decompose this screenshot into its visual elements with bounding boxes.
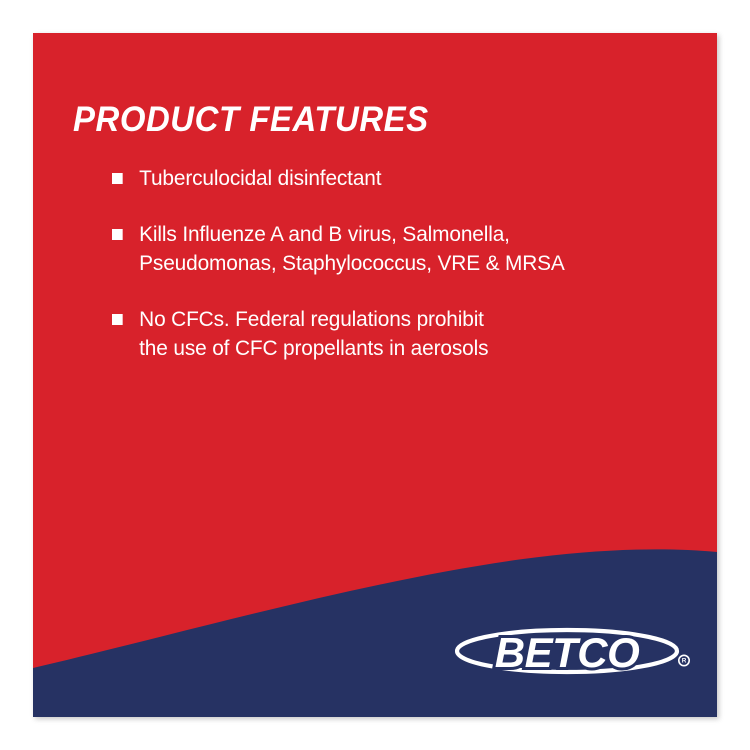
square-bullet-icon [112,314,123,325]
page-title: PRODUCT FEATURES [73,102,429,137]
feature-text-line: Tuberculocidal disinfectant [139,164,670,192]
feature-text-line: the use of CFC propellants in aerosols [139,334,670,362]
square-bullet-icon [112,229,123,240]
betco-logo: BETCO R [455,620,695,682]
screenshot-stage: PRODUCT FEATURES Tuberculocidal disinfec… [0,0,750,750]
list-item: Kills Influenze A and B virus, Salmonell… [112,220,670,277]
list-item: No CFCs. Federal regulations prohibit th… [112,305,670,362]
product-features-list: Tuberculocidal disinfectant Kills Influe… [112,164,687,362]
svg-text:R: R [682,658,687,665]
list-item: Tuberculocidal disinfectant [112,164,670,192]
registered-trademark-icon: R [679,655,689,665]
product-feature-card: PRODUCT FEATURES Tuberculocidal disinfec… [33,33,717,717]
square-bullet-icon [112,173,123,184]
logo-wordmark: BETCO [495,629,640,676]
feature-text-line: No CFCs. Federal regulations prohibit [139,305,670,333]
feature-text-line: Pseudomonas, Staphylococcus, VRE & MRSA [139,249,670,277]
feature-text-line: Kills Influenze A and B virus, Salmonell… [139,220,670,248]
